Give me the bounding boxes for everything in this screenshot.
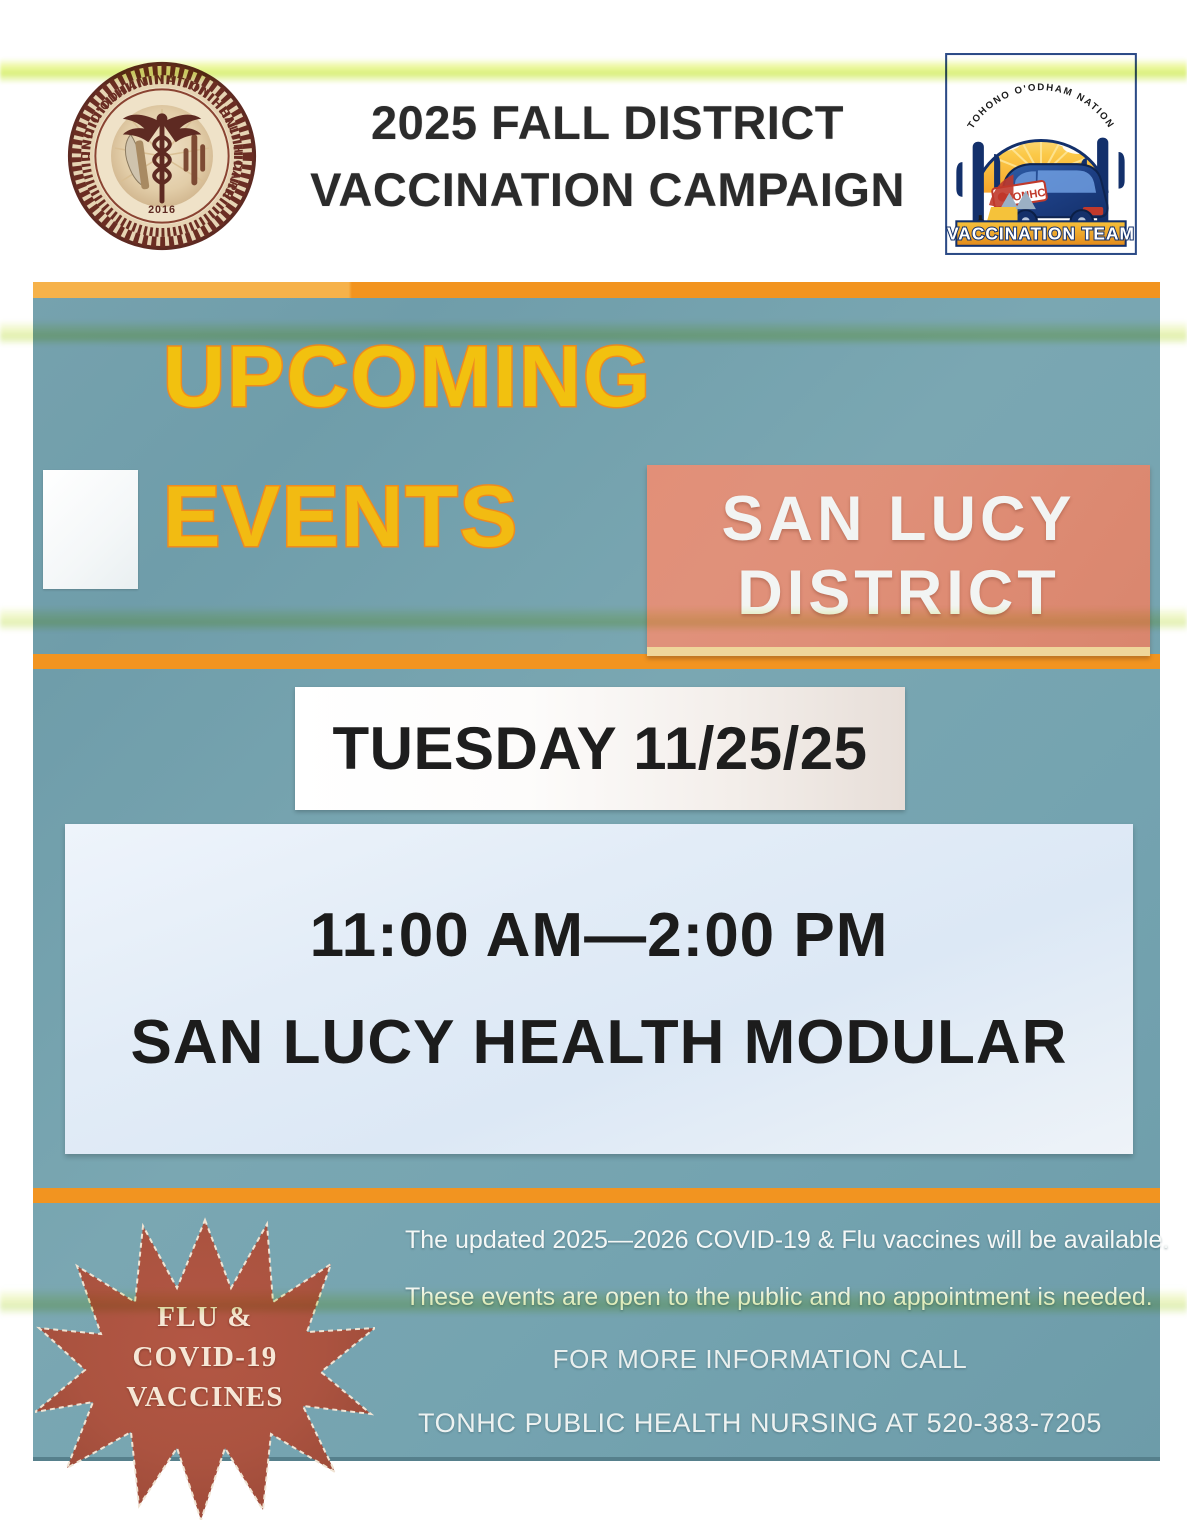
upcoming-heading: UPCOMING bbox=[163, 334, 652, 420]
events-heading: EVENTS bbox=[163, 474, 519, 560]
svg-text:VACCINATION TEAM: VACCINATION TEAM bbox=[947, 224, 1135, 244]
flyer-page: TOHONO O'ODHAM NATION HEALTH CARE bbox=[0, 0, 1187, 1536]
event-date-box: TUESDAY 11/25/25 bbox=[295, 687, 905, 810]
event-location-text: SAN LUCY HEALTH MODULAR bbox=[131, 1007, 1068, 1078]
page-title: 2025 FALL DISTRICT VACCINATION CAMPAIGN bbox=[285, 72, 930, 242]
divider-bar-middle bbox=[33, 654, 1160, 669]
vaccination-team-logo-icon: TOHONO O'ODHAM NATION bbox=[944, 52, 1138, 256]
divider-bar-top bbox=[33, 282, 1160, 298]
starburst-line-1: FLU & bbox=[35, 1297, 375, 1337]
event-date-text: TUESDAY 11/25/25 bbox=[332, 714, 867, 783]
footer-text-group: The updated 2025—2026 COVID-19 & Flu vac… bbox=[405, 1228, 1115, 1437]
placeholder-white-box bbox=[43, 470, 138, 589]
footer-note-2: These events are open to the public and … bbox=[405, 1285, 1115, 1310]
event-time-text: 11:00 AM—2:00 PM bbox=[310, 900, 889, 971]
upcoming-events-section: UPCOMING EVENTS SAN LUCY DISTRICT bbox=[33, 298, 1160, 654]
footer-contact-number: TONHC PUBLIC HEALTH NURSING AT 520-383-7… bbox=[405, 1410, 1115, 1437]
header-band: TOHONO O'ODHAM NATION HEALTH CARE bbox=[0, 0, 1187, 282]
svg-text:2016: 2016 bbox=[148, 204, 176, 216]
district-name-panel: SAN LUCY DISTRICT bbox=[647, 465, 1150, 656]
divider-bar-lower bbox=[33, 1188, 1160, 1203]
title-line-1: 2025 FALL DISTRICT bbox=[371, 90, 844, 157]
district-line-1: SAN LUCY bbox=[721, 482, 1075, 556]
starburst-label: FLU & COVID-19 VACCINES bbox=[35, 1297, 375, 1417]
event-details-box: 11:00 AM—2:00 PM SAN LUCY HEALTH MODULAR bbox=[65, 824, 1133, 1154]
footer-call-label: FOR MORE INFORMATION CALL bbox=[405, 1346, 1115, 1372]
tohono-oodham-nation-health-care-seal-icon: TOHONO O'ODHAM NATION HEALTH CARE bbox=[64, 58, 260, 254]
starburst-line-3: VACCINES bbox=[35, 1377, 375, 1417]
district-line-2: DISTRICT bbox=[737, 556, 1059, 630]
starburst-line-2: COVID-19 bbox=[35, 1337, 375, 1377]
footer-note-1: The updated 2025—2026 COVID-19 & Flu vac… bbox=[405, 1228, 1115, 1253]
title-line-2: VACCINATION CAMPAIGN bbox=[310, 157, 905, 224]
